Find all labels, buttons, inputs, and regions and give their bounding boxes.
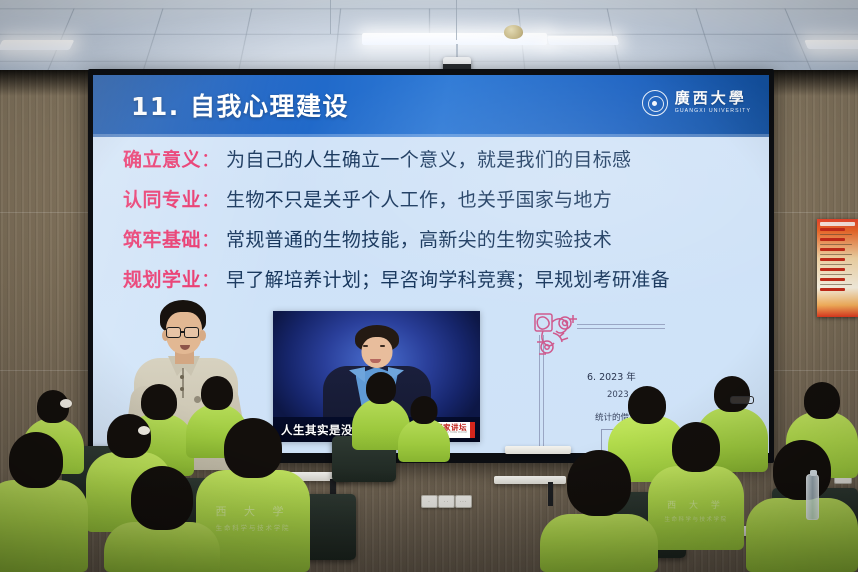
student xyxy=(746,440,858,572)
student-head xyxy=(804,382,840,419)
student-head xyxy=(672,422,720,472)
floral-corner-ornament-icon xyxy=(529,309,591,371)
student xyxy=(104,466,220,572)
presenter-ear xyxy=(199,330,206,341)
presenter-button xyxy=(180,375,184,379)
slide-bullet: 认同专业 ： 生物不只是关乎个人工作，也关乎国家与地方 xyxy=(123,191,743,210)
student xyxy=(540,450,658,572)
lecturer-face xyxy=(361,337,392,368)
student xyxy=(398,396,450,462)
student-head xyxy=(366,372,396,404)
bullet-colon: ： xyxy=(201,151,220,170)
student-shirt xyxy=(0,480,88,572)
classroom-photo: · ·· ··· 11. 自我心理建设 廣西大學 GUANGXI UNIVERS… xyxy=(0,0,858,572)
lecturer-eye xyxy=(363,345,368,347)
slide-bullet-list: 确立意义 ： 为自己的人生确立一个意义，就是我们的目标感 认同专业 ： 生物不只… xyxy=(123,151,743,311)
audience-foreground: 西 大 学 生命科学与技术学院 西 大 学 生命科学与技术学院 xyxy=(0,380,858,572)
glasses-icon xyxy=(166,327,181,338)
lecturer-eye xyxy=(380,345,385,347)
water-bottle[interactable] xyxy=(806,474,819,520)
student-shirt xyxy=(398,418,450,462)
slide-title: 11. 自我心理建设 xyxy=(131,87,349,123)
logo-name-cn: 廣西大學 xyxy=(675,91,751,106)
bullet-key: 确立意义 xyxy=(123,151,201,170)
bullet-colon: ： xyxy=(201,191,220,210)
student-shirt xyxy=(540,514,658,572)
logo-name-en: GUANGXI UNIVERSITY xyxy=(675,109,751,114)
ceiling-wire xyxy=(456,0,457,40)
glasses-bridge xyxy=(181,331,185,333)
student-head xyxy=(201,376,233,410)
glasses-icon xyxy=(184,327,199,338)
slide-bullet: 确立意义 ： 为自己的人生确立一个意义，就是我们的目标感 xyxy=(123,151,743,170)
ceiling-light-panel xyxy=(547,36,619,45)
hair-tie xyxy=(138,426,150,435)
ceiling-light-panel xyxy=(804,40,858,49)
bullet-key: 规划学业 xyxy=(123,271,201,290)
university-logo: 廣西大學 GUANGXI UNIVERSITY xyxy=(642,90,751,116)
bullet-value: 生物不只是关乎个人工作，也关乎国家与地方 xyxy=(226,191,612,210)
ceiling-light-panel xyxy=(0,40,74,50)
student-head xyxy=(9,432,63,488)
bullet-value: 常规普通的生物技能，高新尖的生物实验技术 xyxy=(226,231,612,250)
bullet-value: 为自己的人生确立一个意义，就是我们的目标感 xyxy=(226,151,631,170)
slide-bullet: 筑牢基础 ： 常规普通的生物技能，高新尖的生物实验技术 xyxy=(123,231,743,250)
student: 西 大 学 生命科学与技术学院 xyxy=(648,422,744,550)
student xyxy=(0,432,88,572)
shirt-text-sub: 生命科学与技术学院 xyxy=(664,516,727,524)
student-head xyxy=(107,414,151,458)
student-shirt xyxy=(746,498,858,572)
student-head xyxy=(773,440,831,500)
student-head xyxy=(628,386,666,424)
bullet-key: 筑牢基础 xyxy=(123,231,201,250)
slide-header-band: 11. 自我心理建设 廣西大學 GUANGXI UNIVERSITY xyxy=(93,75,769,137)
hair-tie xyxy=(60,399,72,408)
shirt-text-sub: 生命科学与技术学院 xyxy=(216,524,291,534)
ceiling-wire xyxy=(330,0,331,34)
glasses-icon xyxy=(730,396,754,404)
spiral-seal-icon xyxy=(642,90,668,116)
slide-bullet: 规划学业 ： 早了解培养计划；早咨询学科竞赛；早规划考研准备 xyxy=(123,271,743,290)
bullet-colon: ： xyxy=(201,231,220,250)
bullet-value: 早了解培养计划；早咨询学科竞赛；早规划考研准备 xyxy=(226,271,670,290)
poster-title-band xyxy=(820,222,855,226)
ceiling xyxy=(0,0,858,76)
bullet-colon: ： xyxy=(201,271,220,290)
shirt-text-cn: 西 大 学 xyxy=(667,500,725,514)
bullet-key: 认同专业 xyxy=(123,191,201,210)
student-head xyxy=(131,466,193,530)
wall-poster xyxy=(817,219,858,317)
poster-text-lines xyxy=(820,228,855,291)
student-head xyxy=(224,418,282,478)
smoke-detector-icon xyxy=(504,25,523,39)
student-head xyxy=(567,450,631,516)
student-head xyxy=(411,396,438,424)
shirt-text-cn: 西 大 学 xyxy=(216,504,291,521)
student-head xyxy=(714,376,750,412)
